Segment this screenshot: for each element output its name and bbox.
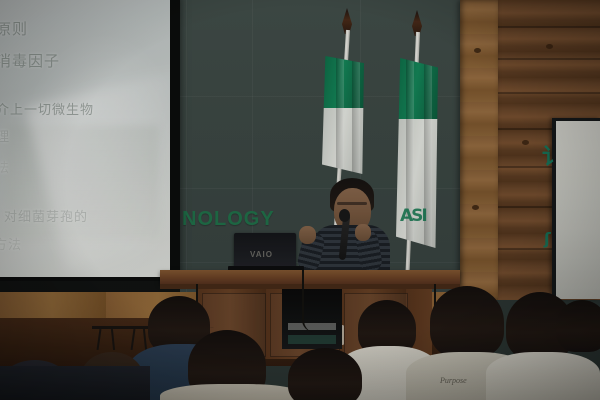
projection-screen-frame: 原则 消毒因子 介上一切微生物 理 法 对细菌芽孢的 方法 bbox=[0, 0, 180, 284]
slide-line-3: 介上一切微生物 bbox=[0, 99, 94, 118]
slide-line-1: 原则 bbox=[0, 18, 28, 39]
flag-emblem: ASI bbox=[400, 206, 426, 226]
audience-head-6 bbox=[556, 300, 600, 352]
lecture-hall-photo: 讠 ʃ ASI NOLOGY 原则 消毒因子 bbox=[0, 0, 600, 400]
audience-head-7 bbox=[288, 348, 362, 400]
whiteboard-mark-2: ʃ bbox=[544, 229, 551, 248]
projection-screen: 原则 消毒因子 介上一切微生物 理 法 对细菌芽孢的 方法 bbox=[0, 0, 170, 277]
audience-head-4 bbox=[430, 286, 504, 358]
whiteboard-mark-1: 讠 bbox=[542, 139, 564, 171]
presenter-glasses bbox=[337, 202, 367, 205]
audience-shoulders-2 bbox=[160, 384, 306, 400]
shirt-text: Purpose bbox=[440, 376, 467, 385]
slide-line-6: 对细菌芽孢的 bbox=[4, 206, 88, 225]
audience-seating-left bbox=[0, 366, 150, 400]
whiteboard[interactable]: 讠 ʃ bbox=[552, 118, 600, 299]
cable-2 bbox=[302, 270, 314, 332]
slide-line-7: 方法 bbox=[0, 234, 22, 253]
presenter-left-hand bbox=[299, 226, 316, 244]
screen-bottom-bar bbox=[0, 281, 180, 292]
slide-line-2: 消毒因子 bbox=[0, 50, 60, 71]
laptop-brand-label: VAIO bbox=[250, 250, 273, 259]
wall-brand-text: NOLOGY bbox=[182, 208, 275, 231]
microphone-head bbox=[339, 209, 350, 222]
wooden-post bbox=[460, 0, 498, 300]
slide-line-5: 法 bbox=[0, 157, 10, 176]
slide-line-4: 理 bbox=[0, 126, 10, 145]
presenter-right-hand bbox=[355, 224, 371, 241]
audience-shoulders-5 bbox=[486, 352, 600, 400]
